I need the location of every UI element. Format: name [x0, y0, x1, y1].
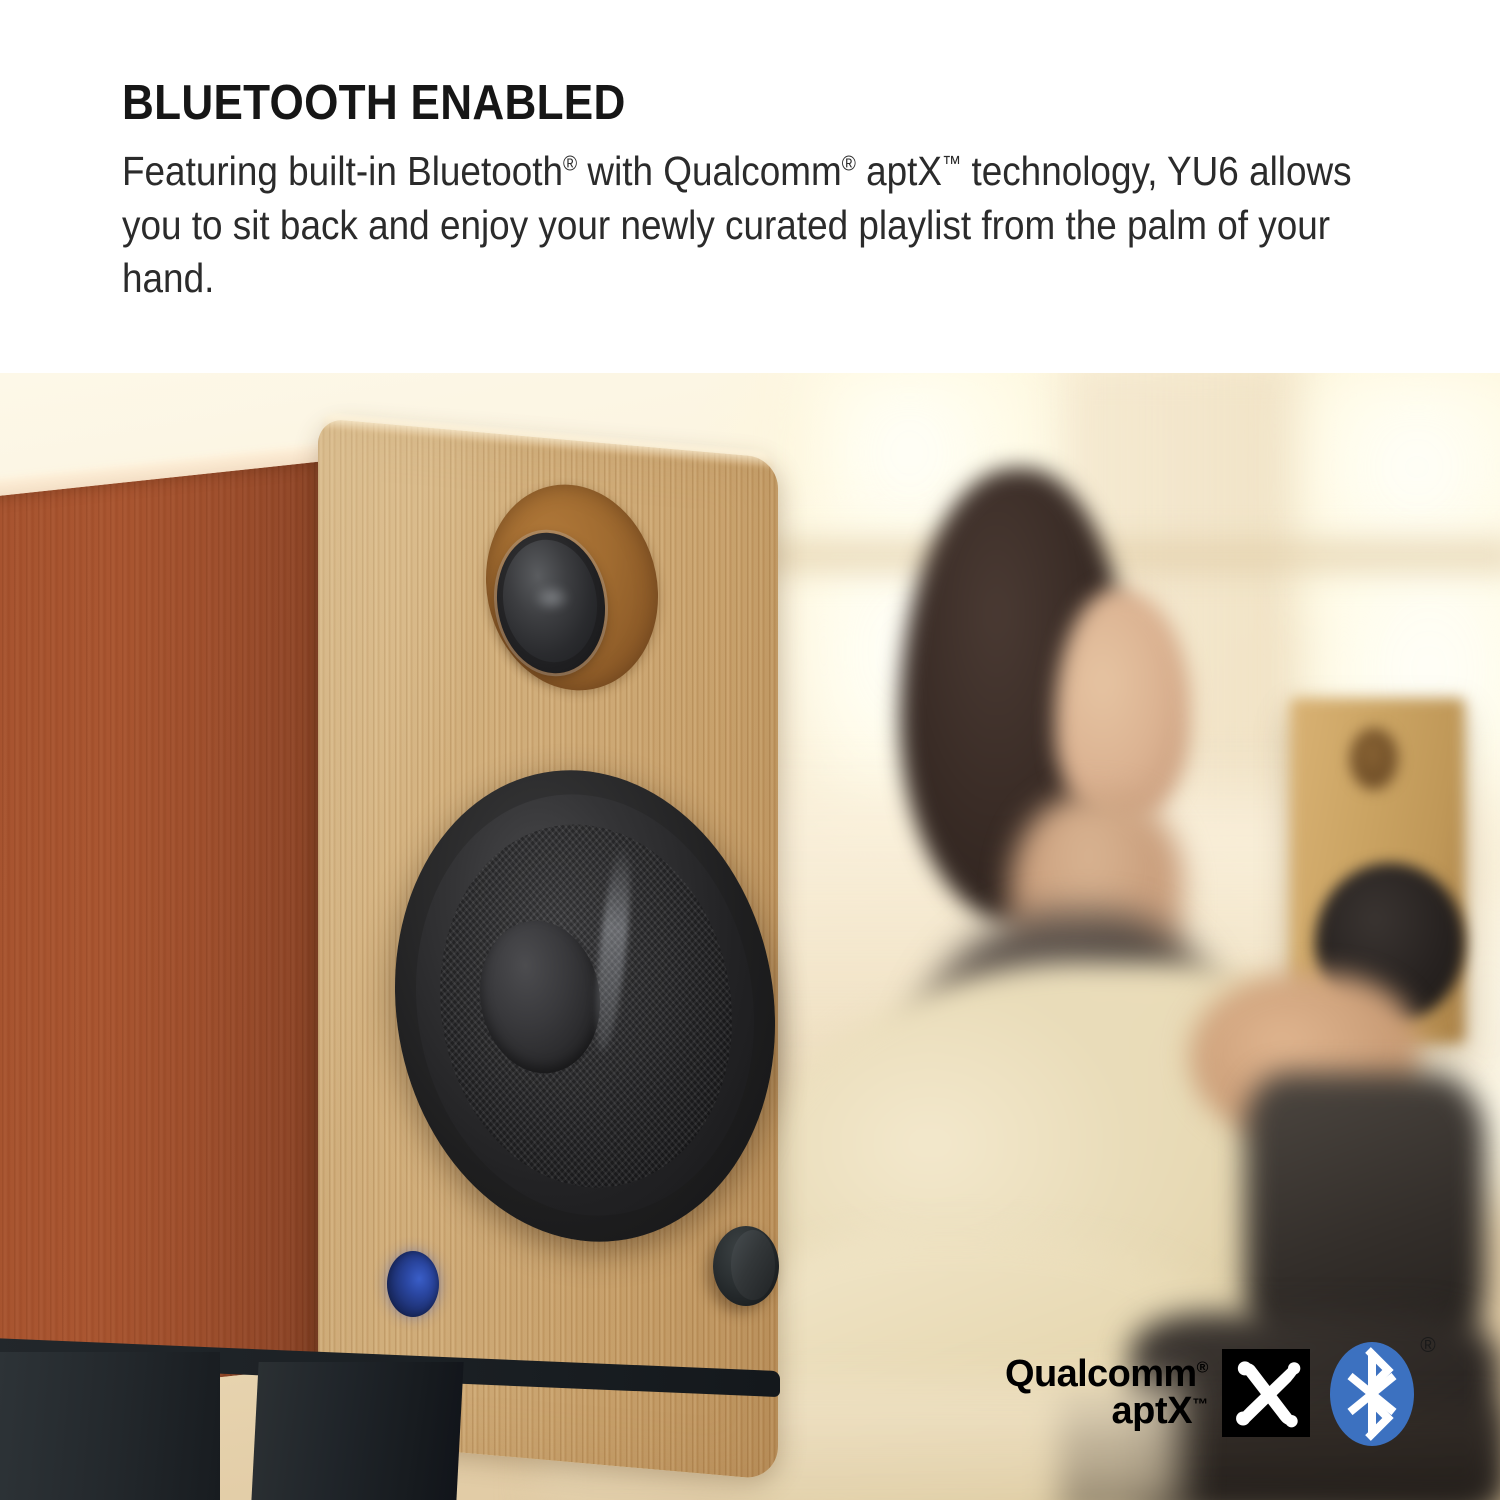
body-line-1-tail: technology, [961, 148, 1157, 194]
qualcomm-wordmark: Qualcomm® [1005, 1356, 1208, 1393]
aptx-x-icon [1222, 1349, 1310, 1437]
bluetooth-logo: ® [1324, 1334, 1432, 1452]
tweeter-highlight [534, 585, 570, 611]
certification-logos: Qualcomm® aptX™ [1005, 1333, 1432, 1453]
bluetooth-rune-icon [1330, 1342, 1414, 1446]
stand-post [251, 1362, 463, 1500]
product-photo [0, 373, 1500, 1500]
stand-left-column [0, 1352, 220, 1500]
main-speaker [0, 373, 1500, 1500]
page-title: BLUETOOTH ENABLED [122, 78, 1292, 129]
aptx-text: aptX [1111, 1390, 1192, 1432]
bluetooth-oval [1330, 1342, 1414, 1446]
qualcomm-text: Qualcomm [1005, 1353, 1197, 1395]
copy-block: BLUETOOTH ENABLED Featuring built-in Blu… [122, 78, 1422, 305]
volume-knob-face[interactable] [731, 1230, 775, 1300]
bluetooth-status-led [387, 1251, 439, 1317]
body-line-1-mid: with Qualcomm [577, 148, 842, 194]
registered-mark-bluetooth: ® [563, 152, 577, 176]
qualcomm-aptx-wordmark: Qualcomm® aptX™ [1005, 1356, 1208, 1430]
marketing-image: BLUETOOTH ENABLED Featuring built-in Blu… [0, 0, 1500, 1500]
registered-icon: ® [1197, 1359, 1208, 1376]
body-line-1-post: aptX [856, 148, 942, 194]
registered-icon: ® [1420, 1334, 1435, 1358]
cabinet-side-panel [0, 461, 325, 1402]
registered-mark-qualcomm: ® [842, 152, 856, 176]
body-copy: Featuring built-in Bluetooth® with Qualc… [122, 145, 1409, 305]
trademark-mark-aptx: ™ [942, 152, 961, 176]
body-line-1-pre: Featuring built-in Bluetooth [122, 148, 563, 194]
aptx-wordmark: aptX™ [1111, 1393, 1207, 1430]
trademark-icon: ™ [1192, 1396, 1208, 1413]
